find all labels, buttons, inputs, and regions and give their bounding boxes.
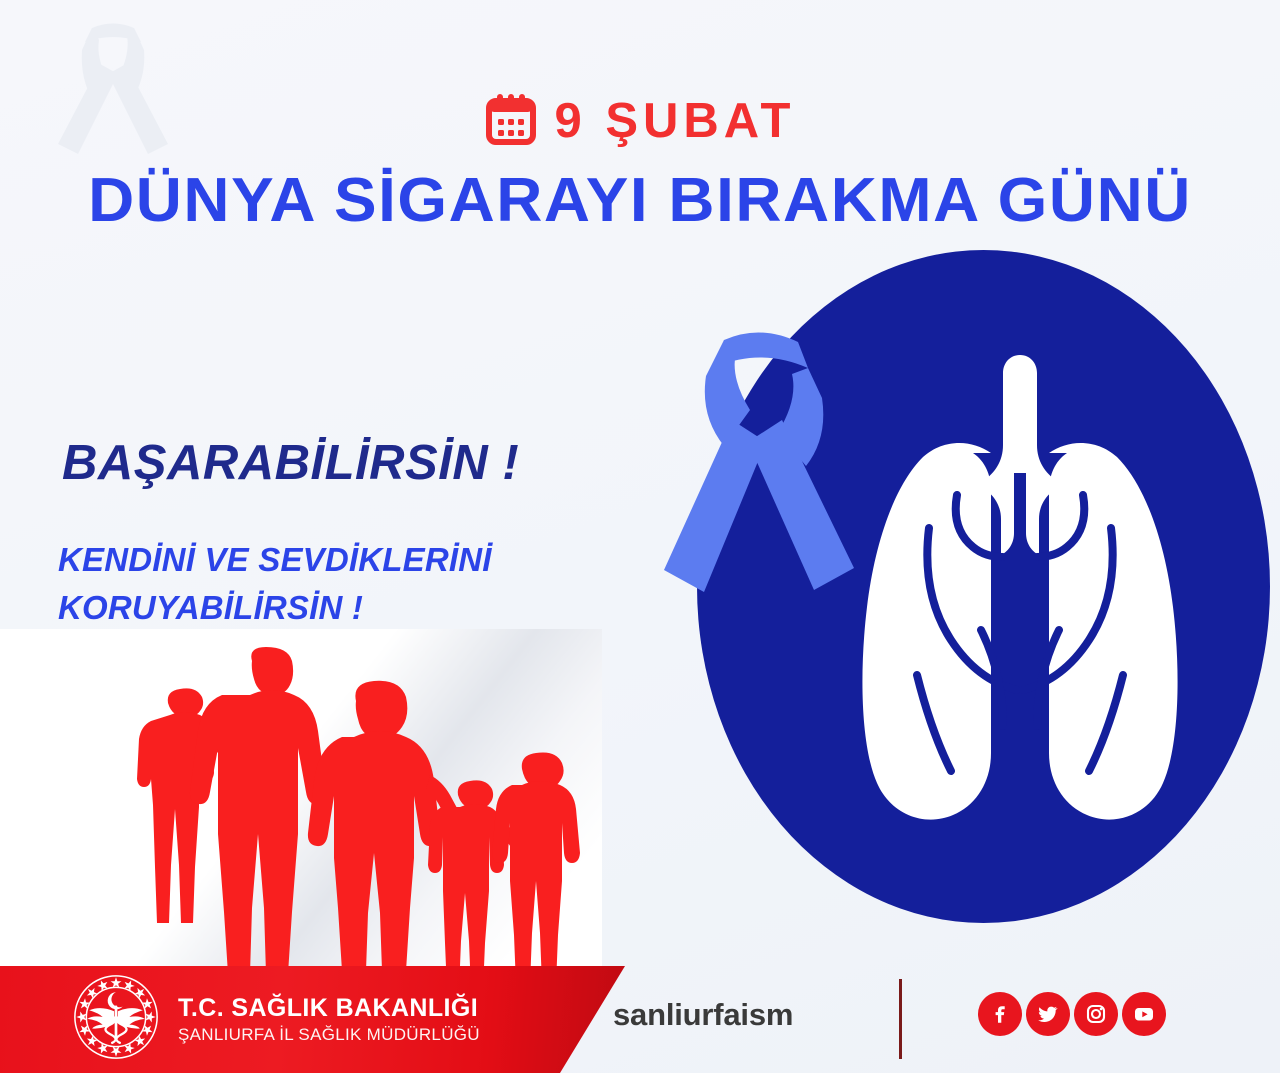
social-links [978,992,1166,1036]
family-silhouette-icon [122,647,582,974]
twitter-icon[interactable] [1026,992,1070,1036]
slogan-secondary-line-1: KENDİNİ VE SEVDİKLERİNİ [58,536,492,584]
calendar-icon [484,92,538,151]
ministry-text-block: T.C. SAĞLIK BAKANLIĞI ŞANLIURFA İL SAĞLI… [178,994,480,1044]
facebook-icon[interactable] [978,992,1022,1036]
ministry-title: T.C. SAĞLIK BAKANLIĞI [178,994,478,1022]
slogan-secondary-line-2: KORUYABİLİRSİN ! [58,584,492,632]
family-panel [0,629,602,974]
lungs-icon [805,345,1235,845]
slogan-secondary: KENDİNİ VE SEVDİKLERİNİ KORUYABİLİRSİN ! [58,536,492,632]
page-title: DÜNYA SİGARAYI BIRAKMA GÜNÜ [0,168,1280,233]
ministry-banner-content: T.C. SAĞLIK BAKANLIĞI ŞANLIURFA İL SAĞLI… [0,966,625,1073]
footer-divider [899,979,902,1059]
slogan-primary: BAŞARABİLİRSİN ! [62,437,519,491]
lungs-artwork [697,250,1270,930]
date-text: 9 ŞUBAT [554,97,795,146]
ministry-subtitle: ŞANLIURFA İL SAĞLIK MÜDÜRLÜĞÜ [178,1025,480,1044]
awareness-ribbon-icon [662,322,858,640]
poster-canvas: 9 ŞUBAT DÜNYA SİGARAYI BIRAKMA GÜNÜ BAŞA… [0,0,1280,1073]
youtube-icon[interactable] [1122,992,1166,1036]
date-badge: 9 ŞUBAT [0,92,1280,151]
ministry-of-health-emblem-icon [72,973,160,1066]
instagram-icon[interactable] [1074,992,1118,1036]
brand-name: sanliurfaism [613,997,793,1033]
